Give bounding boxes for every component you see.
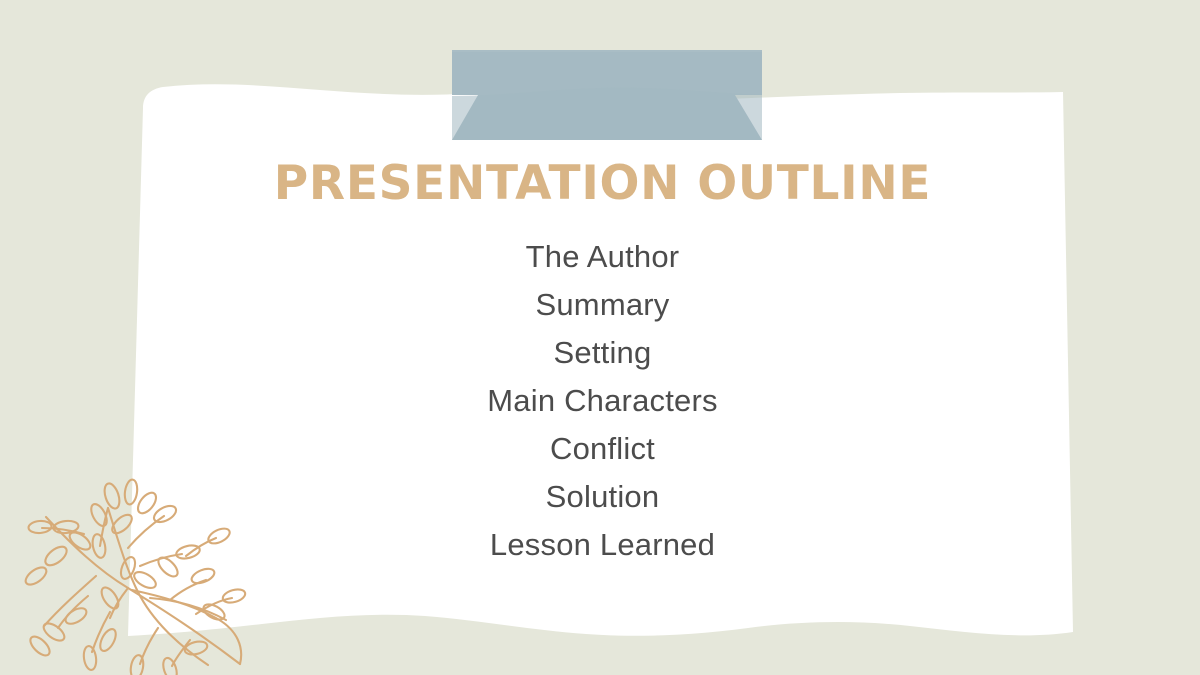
botanical-branch-icon xyxy=(0,0,1200,675)
presentation-slide: PRESENTATION OUTLINE The Author Summary … xyxy=(0,0,1200,675)
